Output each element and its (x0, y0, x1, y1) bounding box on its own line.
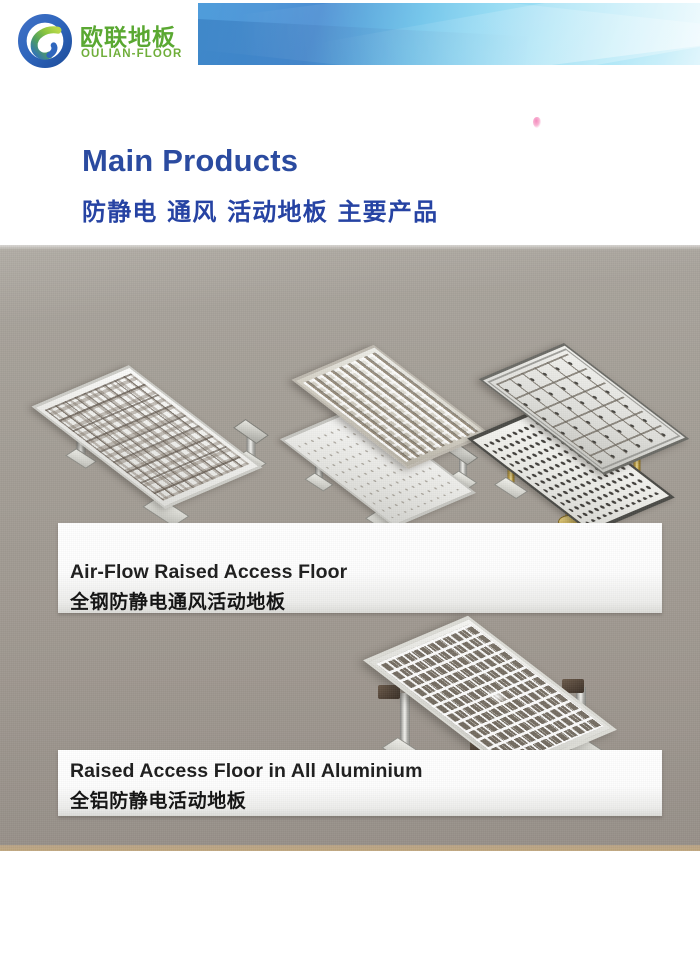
corner-bracket (378, 685, 400, 699)
page-title-en: Main Products (82, 143, 298, 179)
oulian-circle-logo-icon (18, 14, 72, 68)
pink-smudge-artifact (533, 117, 541, 128)
caption-airflow-cn: 全钢防静电通风活动地板 (70, 587, 286, 614)
brand-name-cn: 欧联地板 (80, 18, 176, 52)
page-header: 欧联地板 OULIAN-FLOOR (0, 0, 700, 90)
header-banner-graphic (198, 3, 700, 65)
brand-name-en: OULIAN-FLOOR (81, 48, 182, 60)
page-title-cn: 防静电 通风 活动地板 主要产品 (82, 192, 438, 227)
caption-aluminium-cn: 全铝防静电活动地板 (70, 786, 246, 813)
brand-logo[interactable]: 欧联地板 OULIAN-FLOOR (18, 12, 193, 74)
photo-accent-line (0, 845, 700, 851)
honeycomb-perforation-pattern (45, 373, 250, 500)
photo-top-sheen (0, 245, 700, 250)
caption-airflow-en: Air-Flow Raised Access Floor (70, 561, 347, 584)
product-image-honeycomb (58, 350, 278, 530)
product-image-grid (492, 333, 687, 533)
product-image-tube-welding (296, 340, 486, 530)
caption-aluminium-en: Raised Access Floor in All Aluminium (70, 760, 423, 783)
product-photo: Honeycomb Type 标准蜂窝型通风板 Tube Welding Typ… (0, 245, 700, 851)
